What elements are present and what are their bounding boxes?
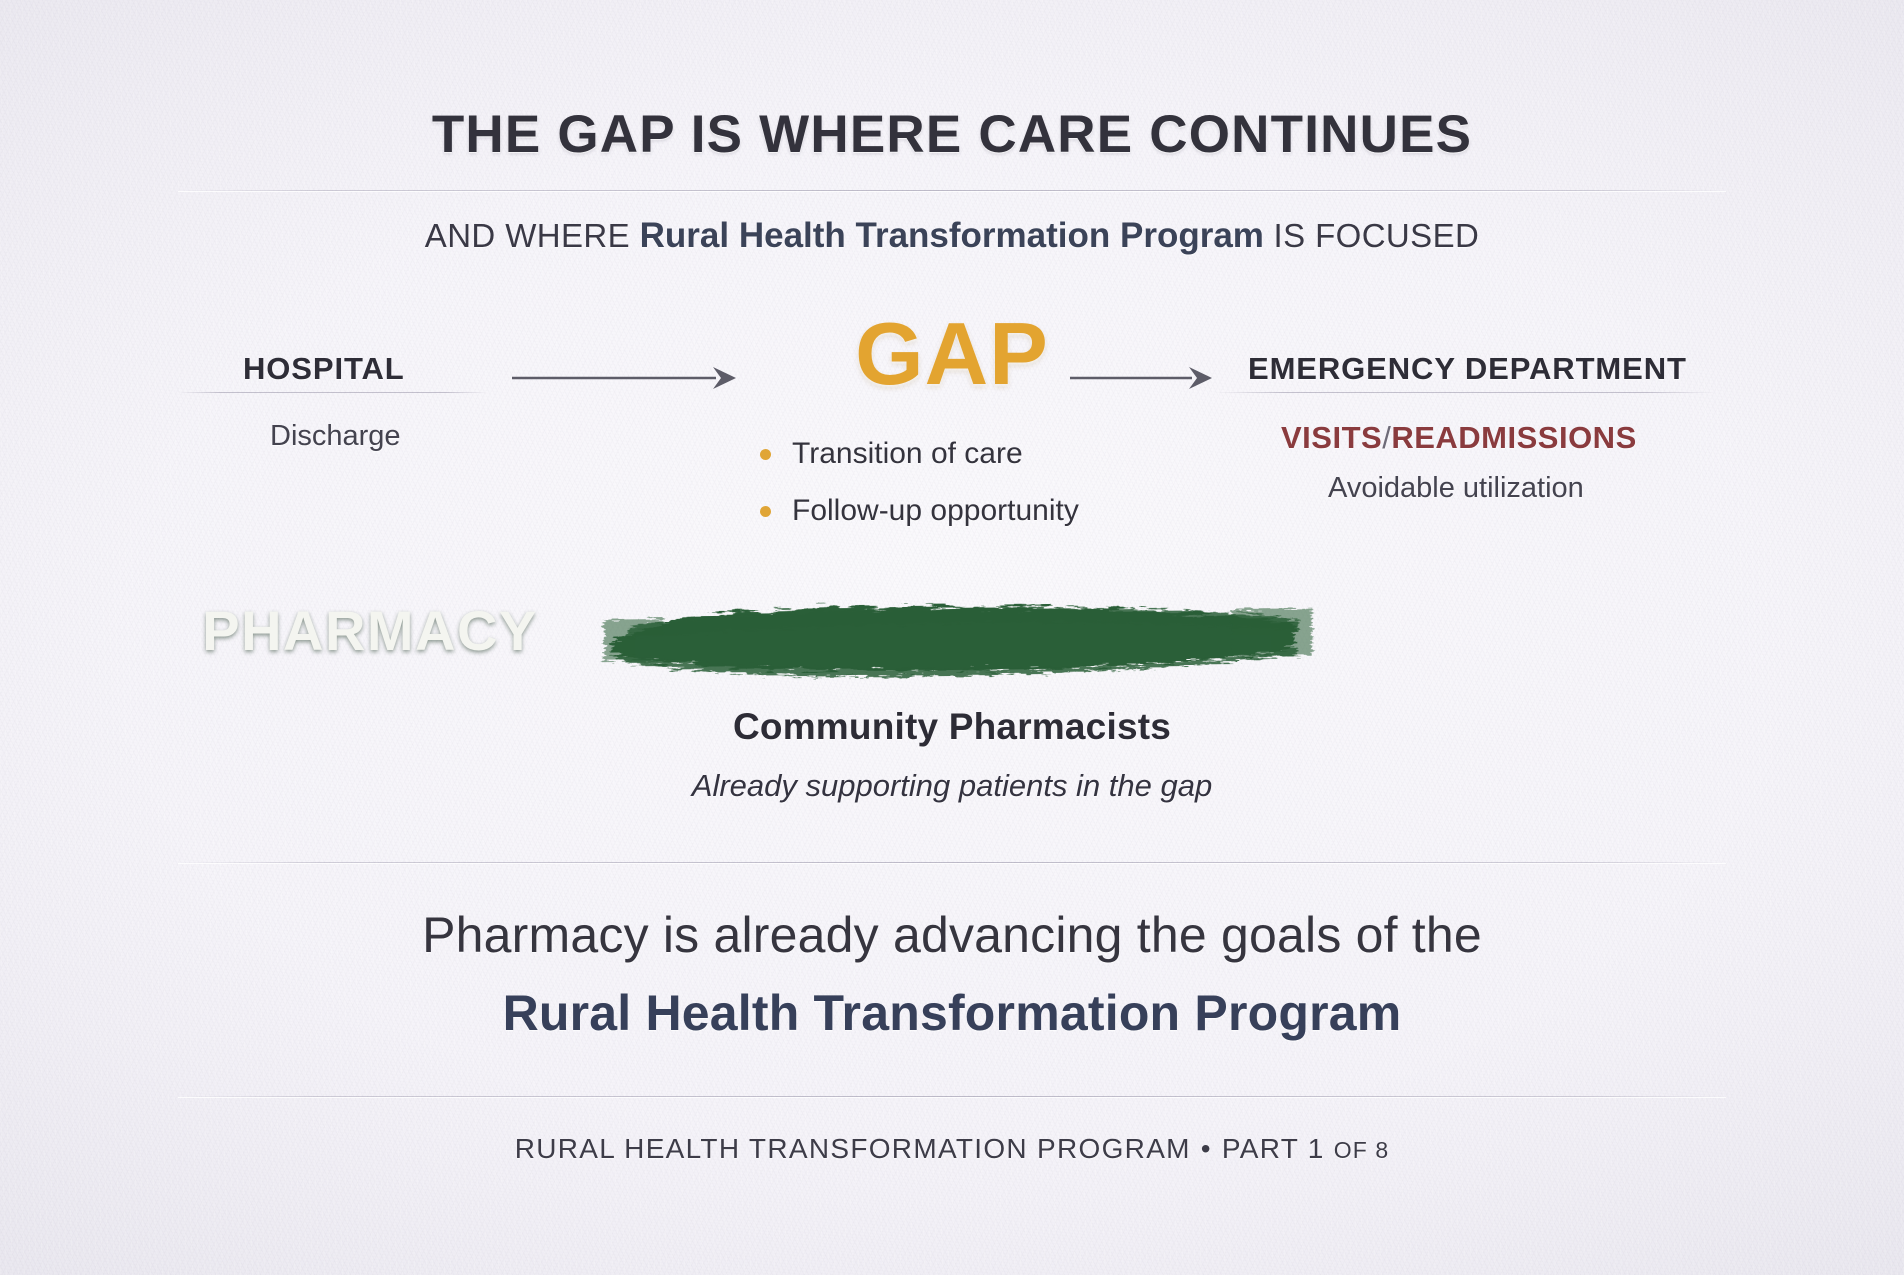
slide-title: THE GAP IS WHERE CARE CONTINUES <box>0 104 1904 165</box>
emergency-department-heading: EMERGENCY DEPARTMENT <box>1248 351 1687 387</box>
subtitle-program-name: Rural Health Transformation Program <box>640 216 1264 255</box>
gap-bullet-list: Transition of care Follow-up opportunity <box>754 425 1079 539</box>
list-item: Follow-up opportunity <box>754 482 1079 539</box>
hospital-subtext: Discharge <box>270 420 401 453</box>
closing-statement-line-2: Rural Health Transformation Program <box>0 984 1904 1042</box>
footer-program-name: RURAL HEALTH TRANSFORMATION PROGRAM <box>515 1133 1191 1164</box>
bullet-dot-icon <box>760 449 771 460</box>
care-flow-diagram: HOSPITAL Discharge GAP Transition of car… <box>0 345 1904 535</box>
divider-middle <box>178 862 1726 863</box>
community-pharmacists-note: Already supporting patients in the gap <box>0 768 1904 804</box>
arrow-right-icon <box>1068 361 1216 400</box>
metric-readmissions: READMISSIONS <box>1391 420 1636 455</box>
divider-top <box>178 190 1726 191</box>
pharmacy-banner: PHARMACY <box>0 586 1904 686</box>
footer-separator: • <box>1191 1133 1222 1164</box>
footer-part-number: PART 1 <box>1222 1133 1325 1164</box>
slide-subtitle: AND WHERE Rural Health Transformation Pr… <box>0 216 1904 256</box>
footer-part-total: OF 8 <box>1334 1137 1390 1163</box>
pharmacy-banner-label: PHARMACY <box>0 598 740 663</box>
slide-footer: RURAL HEALTH TRANSFORMATION PROGRAM•PART… <box>0 1133 1904 1165</box>
gap-bullet-label: Follow-up opportunity <box>792 494 1079 527</box>
list-item: Transition of care <box>754 425 1079 482</box>
closing-statement-line-1: Pharmacy is already advancing the goals … <box>0 906 1904 964</box>
gap-bullet-label: Transition of care <box>792 437 1023 470</box>
metric-separator: / <box>1382 420 1391 455</box>
emergency-department-underline <box>1215 392 1715 393</box>
emergency-department-subtext: Avoidable utilization <box>1328 472 1584 505</box>
subtitle-suffix: IS FOCUSED <box>1274 217 1480 254</box>
bullet-dot-icon <box>760 506 771 517</box>
community-pharmacists-heading: Community Pharmacists <box>0 706 1904 748</box>
slide-canvas: THE GAP IS WHERE CARE CONTINUES AND WHER… <box>0 0 1904 1275</box>
subtitle-prefix: AND WHERE <box>425 217 630 254</box>
divider-bottom <box>178 1096 1726 1097</box>
emergency-department-metrics: VISITS/READMISSIONS <box>1281 420 1637 456</box>
metric-visits: VISITS <box>1281 420 1382 455</box>
